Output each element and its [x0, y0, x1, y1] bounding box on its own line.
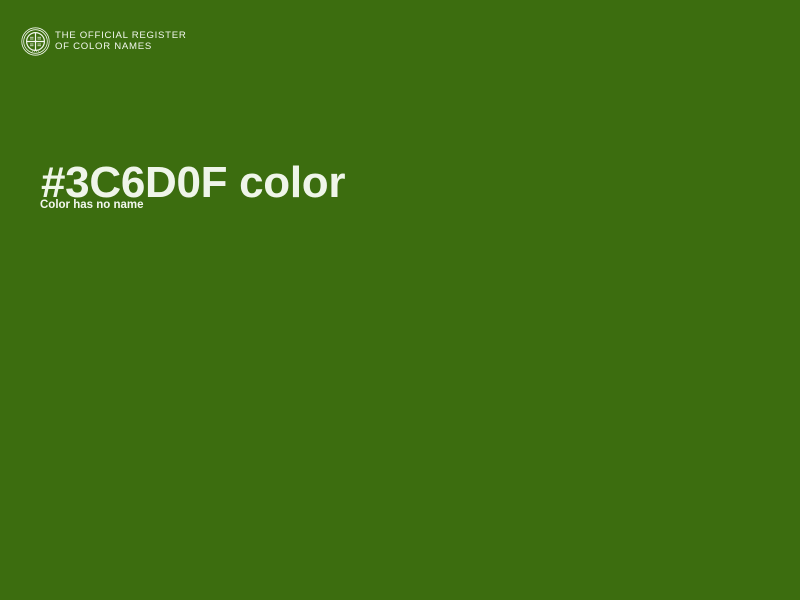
brand-line-2: OF COLOR NAMES	[55, 41, 187, 52]
register-seal-icon	[21, 27, 50, 56]
color-swatch-page: THE OFFICIAL REGISTER OF COLOR NAMES #3C…	[0, 0, 800, 600]
brand-line-1: THE OFFICIAL REGISTER	[55, 30, 187, 41]
color-name-status: Color has no name	[40, 198, 144, 212]
brand-lockup[interactable]: THE OFFICIAL REGISTER OF COLOR NAMES	[21, 27, 187, 56]
brand-text: THE OFFICIAL REGISTER OF COLOR NAMES	[55, 30, 187, 53]
